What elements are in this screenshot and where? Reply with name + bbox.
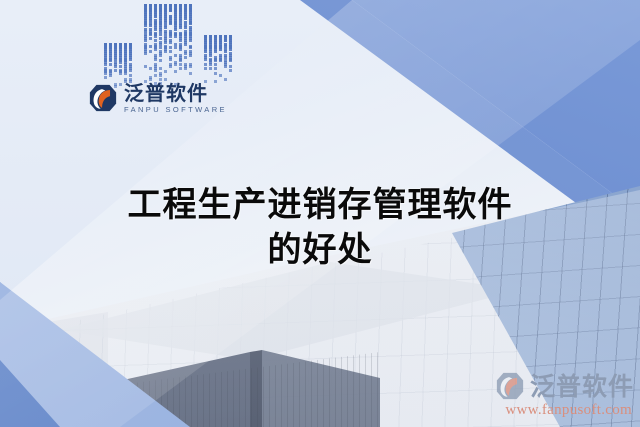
fanpu-watermark-icon (495, 371, 525, 401)
fanpu-hexagon-swoosh-icon (88, 83, 118, 113)
watermark: 泛普软件 www.fanpusoft.com (495, 371, 634, 419)
watermark-name: 泛普软件 (530, 374, 634, 399)
headline-block: 工程生产进销存管理软件 的好处 (0, 183, 640, 273)
brand-wordmark: 泛普软件 FANPU SOFTWARE (124, 83, 227, 114)
poster-canvas: 泛普软件 FANPU SOFTWARE 工程生产进销存管理软件 的好处 泛普软件… (0, 0, 640, 427)
brand-logo: 泛普软件 FANPU SOFTWARE (88, 83, 227, 114)
watermark-url: www.fanpusoft.com (495, 402, 634, 419)
brand-name-cn: 泛普软件 (124, 83, 227, 103)
watermark-row: 泛普软件 (495, 371, 634, 401)
headline-line-2: 的好处 (0, 228, 640, 273)
brand-name-en: FANPU SOFTWARE (124, 106, 227, 114)
pixel-skyline-icon (104, 2, 216, 88)
headline-line-1: 工程生产进销存管理软件 (0, 183, 640, 228)
